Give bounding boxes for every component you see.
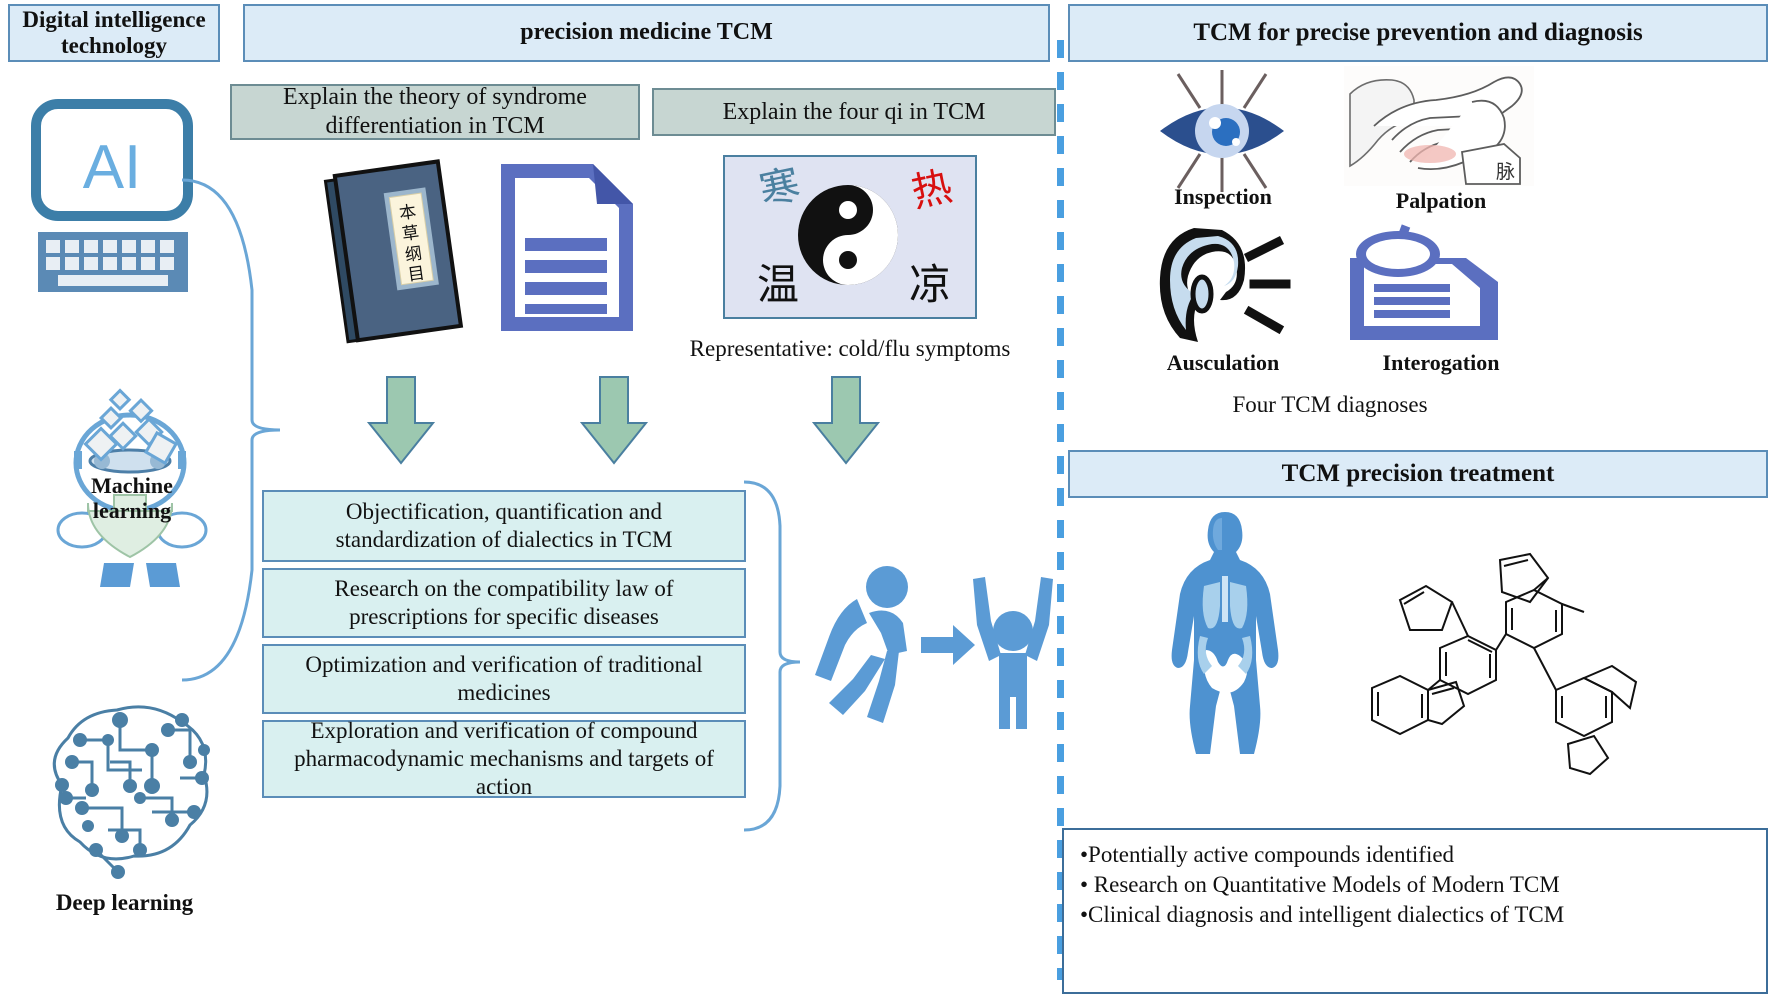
green-down-arrow-2: [578, 375, 650, 465]
outcome-box-4: Exploration and verification of compound…: [262, 720, 746, 798]
diagnosis-label-palpation: Palpation: [1348, 188, 1534, 214]
green-down-arrow-1: [365, 375, 437, 465]
diagnosis-label-ausculation: Ausculation: [1120, 350, 1326, 376]
eye-icon: [1152, 66, 1292, 196]
document-icon: [497, 160, 637, 335]
ear-icon: [1150, 222, 1290, 347]
pulse-char: 脉: [1496, 161, 1515, 183]
keyboard-icon: [38, 232, 188, 292]
header-right-bottom-label: TCM precision treatment: [1282, 460, 1555, 489]
svg-text:目: 目: [407, 263, 427, 285]
green-down-arrow-3: [810, 375, 882, 465]
right-bracket-connector: [742, 480, 802, 840]
header-tcm-precise-prevention-diagnosis: TCM for precise prevention and diagnosis: [1068, 4, 1768, 62]
four-qi-cool-char: 凉: [909, 260, 951, 309]
chemical-structures-icon: [1380, 540, 1690, 770]
svg-text:本: 本: [398, 202, 418, 224]
header-digital-intelligence-technology: Digital intelligence technology: [8, 4, 220, 62]
header-precision-medicine-tcm: precision medicine TCM: [243, 4, 1050, 62]
treatment-bullet-1: •Potentially active compounds identified: [1080, 840, 1752, 870]
treatment-bullet-2: • Research on Quantitative Models of Mod…: [1080, 870, 1752, 900]
header-left-label: Digital intelligence technology: [10, 7, 218, 60]
subhead-four-qi: Explain the four qi in TCM: [652, 88, 1056, 136]
deep-learning-brain-icon: [22, 690, 227, 880]
diagnosis-label-inspection: Inspection: [1120, 184, 1326, 210]
human-body-anatomy-icon: [1160, 510, 1290, 760]
svg-text:纲: 纲: [404, 244, 424, 266]
patient-recovery-illustration: [795, 555, 1065, 730]
pulse-hand-icon: 脉: [1344, 66, 1534, 186]
subhead-0-label: Explain the theory of syndrome different…: [232, 83, 638, 141]
header-center-label: precision medicine TCM: [520, 19, 772, 47]
recovery-arrow-icon: [921, 625, 975, 665]
diagnosis-label-interogation: Interogation: [1348, 350, 1534, 376]
outcome-box-3: Optimization and verification of traditi…: [262, 644, 746, 714]
four-tcm-diagnoses-caption: Four TCM diagnoses: [1130, 392, 1530, 418]
clipboard-icon: [1348, 222, 1518, 347]
four-qi-warm-char: 温: [757, 260, 799, 309]
header-right-top-label: TCM for precise prevention and diagnosis: [1193, 19, 1642, 48]
ai-monitor-icon: AI: [32, 100, 192, 220]
healthy-person-icon: [973, 577, 1053, 729]
svg-text:草: 草: [401, 223, 421, 245]
subhead-syndrome-differentiation: Explain the theory of syndrome different…: [230, 84, 640, 140]
four-qi-hot-char: 热: [908, 163, 957, 216]
four-qi-cold-char: 寒: [756, 161, 805, 214]
treatment-bullet-3: •Clinical diagnosis and intelligent dial…: [1080, 900, 1752, 930]
ancient-book-icon: 本 草 纲 目: [322, 160, 472, 340]
ai-label-text: AI: [83, 133, 142, 202]
sick-person-icon: [815, 566, 908, 723]
outcome-box-1: Objectification, quantification and stan…: [262, 490, 746, 562]
representative-caption: Representative: cold/flu symptoms: [640, 336, 1060, 362]
subhead-1-label: Explain the four qi in TCM: [723, 98, 986, 127]
deep-learning-label: Deep learning: [22, 890, 227, 916]
four-qi-yinyang-panel: 寒 热 温 凉: [723, 155, 977, 319]
outcome-box-2: Research on the compatibility law of pre…: [262, 568, 746, 638]
header-tcm-precision-treatment: TCM precision treatment: [1068, 450, 1768, 498]
treatment-bullets-box: •Potentially active compounds identified…: [1062, 828, 1768, 994]
